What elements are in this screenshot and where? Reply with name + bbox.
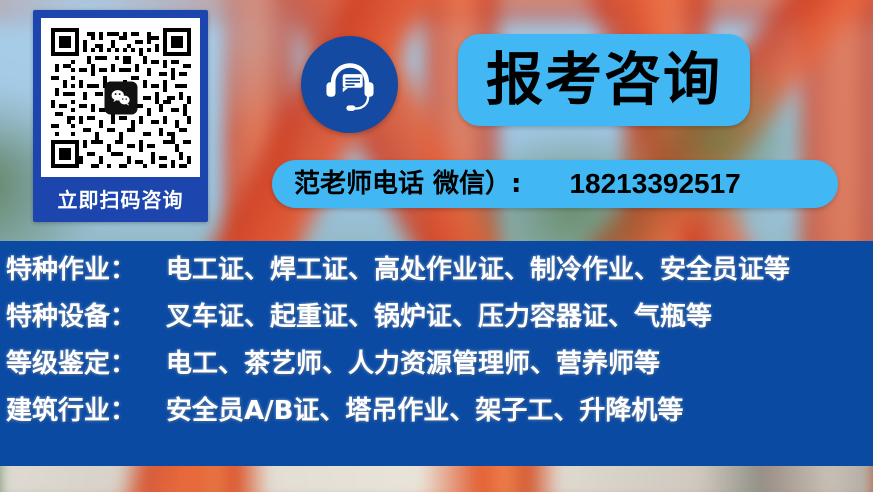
certificate-categories-panel: 特种作业： 电工证、焊工证、高处作业证、制冷作业、安全员证等 特种设备： 叉车证… [0,241,873,466]
info-row-special-operations: 特种作业： 电工证、焊工证、高处作业证、制冷作业、安全员证等 [6,257,873,304]
row-label: 特种作业： [6,257,158,283]
contact-phone-bar[interactable]: 范老师电话 微信）: 18213392517 [272,160,838,208]
info-row-grade-appraisal: 等级鉴定： 电工、茶艺师、人力资源管理师、营养师等 [6,351,873,398]
qr-code-image[interactable] [41,18,200,177]
qr-caption: 立即扫码咨询 [58,177,184,222]
headset-support-icon [321,56,379,114]
row-value: 安全员A/B证、塔吊作业、架子工、升降机等 [166,398,683,424]
qr-card[interactable]: 立即扫码咨询 [33,10,208,222]
row-label: 等级鉴定： [6,351,158,377]
info-row-construction-industry: 建筑行业： 安全员A/B证、塔吊作业、架子工、升降机等 [6,398,873,445]
row-value: 叉车证、起重证、锅炉证、压力容器证、气瓶等 [166,304,712,330]
info-row-special-equipment: 特种设备： 叉车证、起重证、锅炉证、压力容器证、气瓶等 [6,304,873,351]
row-value: 电工、茶艺师、人力资源管理师、营养师等 [166,351,660,377]
row-label: 建筑行业： [6,398,158,424]
promo-poster: 立即扫码咨询 报考咨询 范老师电话 微信）: 18213392517 特种作业：… [0,0,873,492]
row-label: 特种设备： [6,304,158,330]
cta-label: 报考咨询 [486,52,722,109]
wechat-icon [109,86,132,109]
customer-support-badge[interactable] [301,36,398,133]
contact-phone-number[interactable]: 18213392517 [569,170,740,198]
cta-exam-consult-button[interactable]: 报考咨询 [458,34,750,126]
contact-label: 范老师电话 微信）: [294,171,521,197]
wechat-logo-badge [104,81,137,114]
row-value: 电工证、焊工证、高处作业证、制冷作业、安全员证等 [166,257,790,283]
